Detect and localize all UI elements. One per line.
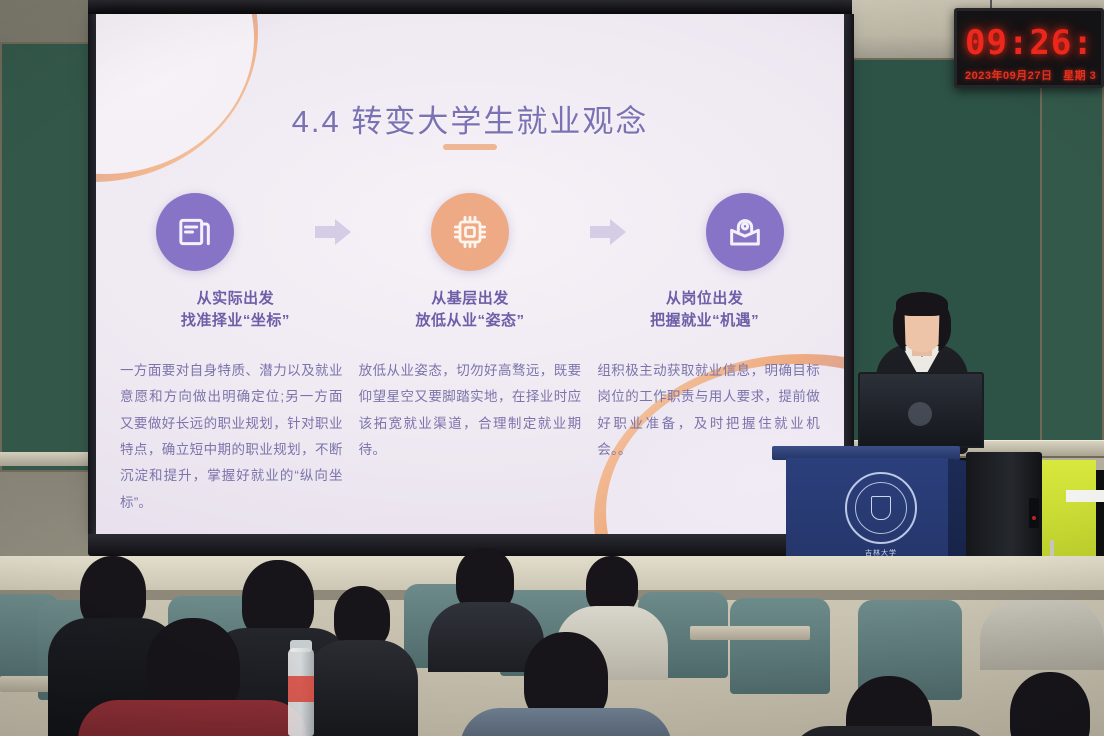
column-headings-row: 从实际出发 找准择业“坐标” 从基层出发 放低从业“姿态” 从岗位出发 把握就业…	[96, 288, 844, 332]
chip-icon-badge	[431, 193, 509, 271]
screen-roller	[88, 0, 852, 14]
digital-clock: 09:26: 2023年09月27日 星期 3	[954, 8, 1104, 88]
clock-time: 09:26:	[965, 23, 1094, 63]
column-body-2: 放低从业姿态，切勿好高骛远，既要仰望星空又要脚踏实地，在择业时应该拓宽就业渠道，…	[351, 358, 590, 516]
presentation-slide: 4.4 转变大学生就业观念	[96, 14, 844, 534]
column-body-3: 组积极主动获取就业信息，明确目标岗位的工作职责与用人要求，提前做好职业准备，及时…	[589, 358, 828, 516]
blackboard-left	[0, 42, 96, 472]
speaker-power-led	[1032, 516, 1036, 520]
audience-desk	[690, 626, 810, 640]
emblem-shield-icon	[871, 496, 891, 520]
column-heading-2: 从基层出发 放低从业“姿态”	[353, 288, 588, 332]
title-underline	[443, 144, 497, 150]
water-bottle-label	[288, 676, 314, 702]
flow-arrow-2	[586, 214, 630, 250]
audience-shoulders	[78, 700, 308, 736]
column-body-row: 一方面要对自身特质、潜力以及就业意愿和方向做出明确定位;另一方面又要做好长远的职…	[96, 358, 844, 516]
flow-arrow-1	[311, 214, 355, 250]
clock-weekday: 星期 3	[1063, 70, 1096, 82]
emblem-inner-ring	[855, 482, 907, 534]
clock-date: 2023年09月27日 星期 3	[965, 67, 1096, 83]
university-emblem	[845, 472, 917, 544]
briefcase-icon	[725, 212, 765, 252]
blackboard-far-right	[1040, 58, 1104, 458]
audience-shoulders	[306, 640, 418, 736]
audience-shoulders	[980, 600, 1104, 670]
chip-icon	[450, 212, 490, 252]
arrow-right-icon	[313, 216, 353, 248]
briefcase-icon-badge	[706, 193, 784, 271]
column-heading-1: 从实际出发 找准择业“坐标”	[118, 288, 353, 332]
heading-1-line-2: 找准择业“坐标”	[118, 310, 353, 332]
document-icon-badge	[156, 193, 234, 271]
audience-shoulders	[788, 726, 994, 736]
heading-2-line-2: 放低从业“姿态”	[353, 310, 588, 332]
column-heading-3: 从岗位出发 把握就业“机遇”	[587, 288, 822, 332]
clock-date-value: 2023年09月27日	[965, 70, 1052, 82]
chair	[730, 598, 830, 694]
laptop-logo	[908, 402, 932, 426]
arrow-right-icon	[588, 216, 628, 248]
heading-3-line-1: 从岗位出发	[587, 288, 822, 310]
column-body-1: 一方面要对自身特质、潜力以及就业意愿和方向做出明确定位;另一方面又要做好长远的职…	[112, 358, 351, 516]
icon-flow-row	[96, 182, 844, 282]
audience-head	[334, 586, 390, 648]
slide-title: 4.4 转变大学生就业观念	[96, 96, 844, 141]
speaker-panel	[1029, 498, 1039, 528]
projection-screen: 4.4 转变大学生就业观念	[96, 14, 844, 534]
heading-1-line-1: 从实际出发	[118, 288, 353, 310]
heading-3-line-2: 把握就业“机遇”	[587, 310, 822, 332]
document-icon	[175, 212, 215, 252]
lecture-hall-scene: 09:26: 2023年09月27日 星期 3 4.4 转变大学生就业观念	[0, 0, 1104, 736]
audience-shoulders	[460, 708, 672, 736]
heading-2-line-1: 从基层出发	[353, 288, 588, 310]
yellow-container-label	[1066, 490, 1104, 502]
presenter-bangs	[896, 292, 948, 316]
chalk-rail-left	[0, 452, 96, 466]
